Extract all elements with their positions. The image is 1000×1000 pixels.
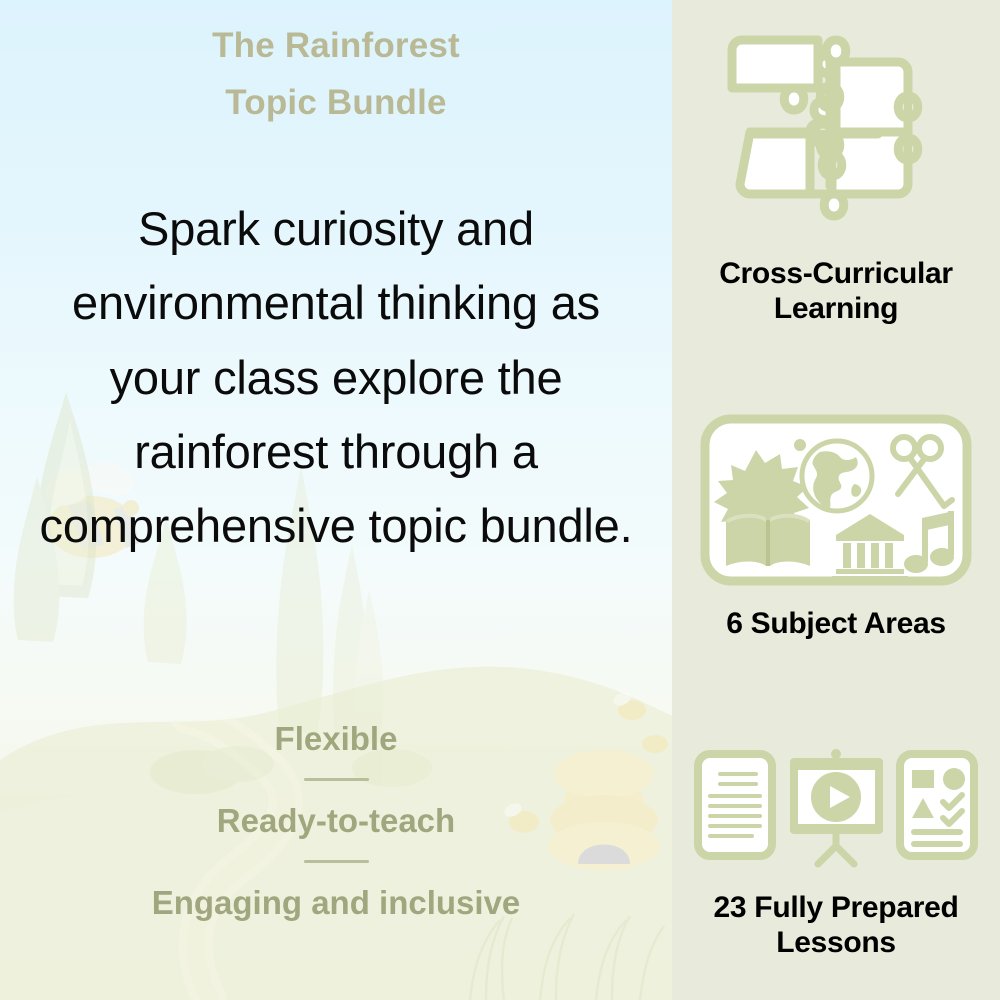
sidebar-card-label-subject-areas: 6 Subject Areas xyxy=(672,606,1000,641)
worksheet-checklist-icon xyxy=(900,754,974,856)
feature-item-engaging-and-inclusive: Engaging and inclusive xyxy=(0,880,672,925)
page-title: The Rainforest Topic Bundle xyxy=(0,18,672,131)
open-book-icon xyxy=(726,514,810,566)
feature-divider xyxy=(304,860,369,863)
card-label-line2: Learning xyxy=(680,291,992,326)
body-paragraph: Spark curiosity and environmental thinki… xyxy=(26,192,646,563)
left-content: The Rainforest Topic Bundle Spark curios… xyxy=(0,0,672,1000)
feature-item-ready-to-teach: Ready-to-teach xyxy=(0,798,672,843)
card-label-line1: 23 Fully Prepared xyxy=(680,890,992,925)
sidebar-card-subject-areas: 6 Subject Areas xyxy=(672,414,1000,641)
presentation-play-icon xyxy=(790,749,883,864)
sidebar-card-cross-curricular: Cross-Curricular Learning xyxy=(672,14,1000,326)
feature-list: Flexible Ready-to-teach Engaging and inc… xyxy=(0,716,672,925)
poster-canvas: The Rainforest Topic Bundle Spark curios… xyxy=(0,0,1000,1000)
lesson-resources-icon-wrap xyxy=(672,746,1000,868)
puzzle-pieces-icon xyxy=(710,14,962,246)
puzzle-icon-wrap xyxy=(672,14,1000,246)
sidebar-card-lessons: 23 Fully Prepared Lessons xyxy=(672,746,1000,960)
sidebar: Cross-Curricular Learning xyxy=(672,0,1000,1000)
sidebar-card-label-cross-curricular: Cross-Curricular Learning xyxy=(672,256,1000,326)
subject-areas-icon-wrap xyxy=(672,414,1000,586)
card-label-line1: 6 Subject Areas xyxy=(680,606,992,641)
card-label-line1: Cross-Curricular xyxy=(680,256,992,291)
page-title-line1: The Rainforest xyxy=(0,18,672,75)
feature-item-flexible: Flexible xyxy=(0,716,672,761)
document-lines-icon xyxy=(698,754,772,856)
left-panel: The Rainforest Topic Bundle Spark curios… xyxy=(0,0,672,1000)
subject-areas-icon xyxy=(700,414,972,586)
card-label-line2: Lessons xyxy=(680,925,992,960)
feature-divider xyxy=(304,778,369,781)
globe-icon xyxy=(802,441,872,511)
sidebar-card-label-lessons: 23 Fully Prepared Lessons xyxy=(672,890,1000,960)
page-title-line2: Topic Bundle xyxy=(0,75,672,132)
lesson-resources-icon xyxy=(690,746,982,868)
